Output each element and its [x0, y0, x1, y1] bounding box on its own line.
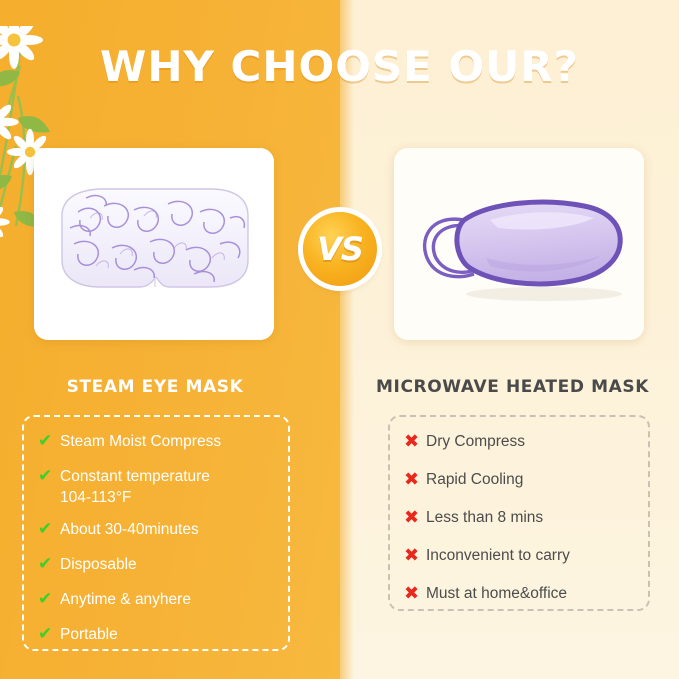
check-icon: ✔: [38, 624, 60, 645]
feature-text-line2: 104-113°F: [60, 487, 210, 508]
page-title: WHY CHOOSE OUR?: [0, 42, 679, 91]
product-card-microwave-heated-mask: [394, 148, 644, 340]
list-item: ✖ Rapid Cooling: [404, 469, 648, 493]
feature-list-microwave-heated-mask: ✖ Dry Compress ✖ Rapid Cooling ✖ Less th…: [388, 415, 650, 611]
feature-text: About 30-40minutes: [60, 519, 199, 540]
list-item: ✔ Anytime & anyhere: [38, 589, 288, 613]
cross-icon: ✖: [404, 431, 426, 452]
feature-text: Dry Compress: [426, 431, 525, 452]
check-icon: ✔: [38, 519, 60, 540]
feature-text: Less than 8 mins: [426, 507, 543, 528]
feature-text: Anytime & anyhere: [60, 589, 191, 610]
list-item: ✔ Portable: [38, 624, 288, 648]
feature-text: Inconvenient to carry: [426, 545, 570, 566]
feature-text-line1: Constant temperature: [60, 466, 210, 487]
feature-text: Must at home&office: [426, 583, 567, 604]
steam-eye-mask-image: [34, 148, 274, 340]
microwave-heated-mask-image: [394, 148, 644, 340]
feature-text: Rapid Cooling: [426, 469, 523, 490]
vs-badge-label: VS: [317, 230, 363, 268]
check-icon: ✔: [38, 466, 60, 487]
feature-text: Constant temperature 104-113°F: [60, 466, 210, 508]
product-heading-right: MICROWAVE HEATED MASK: [346, 377, 679, 397]
list-item: ✖ Less than 8 mins: [404, 507, 648, 531]
check-icon: ✔: [38, 589, 60, 610]
cross-icon: ✖: [404, 545, 426, 566]
list-item: ✔ Disposable: [38, 554, 288, 578]
list-item: ✔ About 30-40minutes: [38, 519, 288, 543]
product-card-steam-eye-mask: [34, 148, 274, 340]
comparison-infographic: WHY CHOOSE OUR?: [0, 0, 679, 679]
product-heading-left: STEAM EYE MASK: [20, 377, 290, 397]
cross-icon: ✖: [404, 583, 426, 604]
check-icon: ✔: [38, 554, 60, 575]
list-item: ✔ Constant temperature 104-113°F: [38, 466, 288, 508]
list-item: ✖ Dry Compress: [404, 431, 648, 455]
feature-text: Disposable: [60, 554, 137, 575]
vs-badge: VS: [303, 212, 377, 286]
feature-text: Steam Moist Compress: [60, 431, 221, 452]
check-icon: ✔: [38, 431, 60, 452]
feature-text: Portable: [60, 624, 118, 645]
list-item: ✔ Steam Moist Compress: [38, 431, 288, 455]
feature-list-steam-eye-mask: ✔ Steam Moist Compress ✔ Constant temper…: [22, 415, 290, 651]
list-item: ✖ Inconvenient to carry: [404, 545, 648, 569]
cross-icon: ✖: [404, 469, 426, 490]
list-item: ✖ Must at home&office: [404, 583, 648, 607]
cross-icon: ✖: [404, 507, 426, 528]
